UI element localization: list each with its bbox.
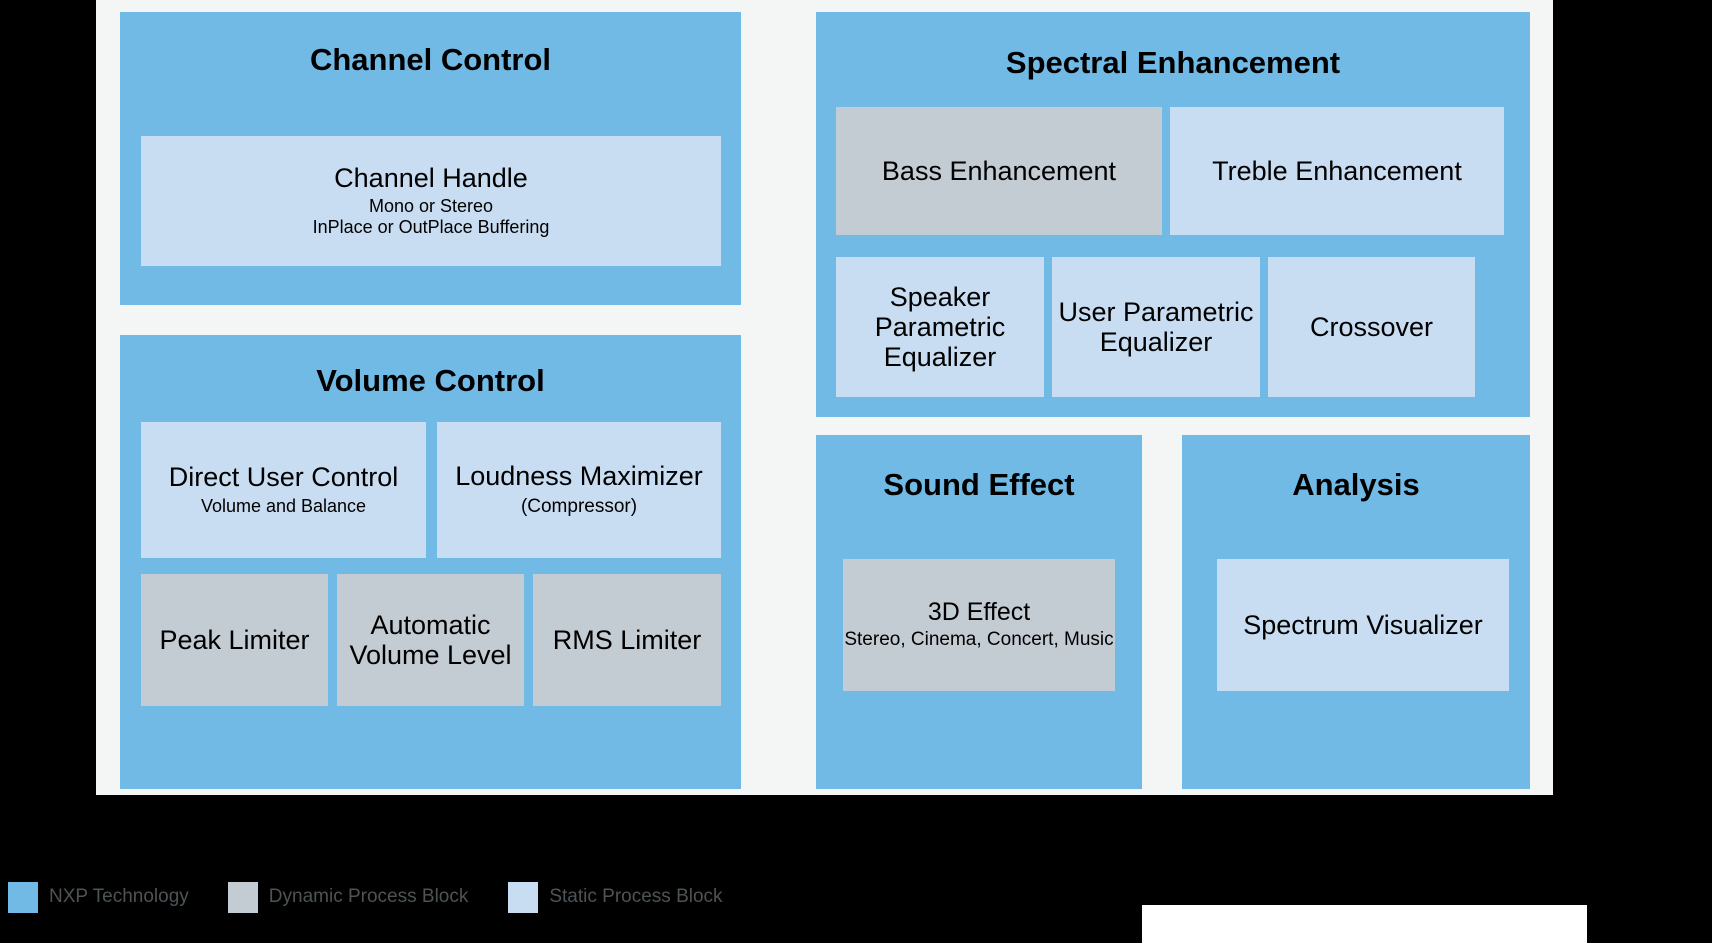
group-title-volume-control: Volume Control: [120, 363, 741, 399]
group-title-channel-control: Channel Control: [120, 42, 741, 78]
block-sub-channel-handle-2: InPlace or OutPlace Buffering: [313, 217, 550, 239]
block-title-bass-enhancement: Bass Enhancement: [882, 156, 1116, 186]
block-sub-loudness-maximizer: (Compressor): [521, 496, 637, 519]
block-sub-direct-user-control: Volume and Balance: [201, 496, 366, 518]
block-title-spectrum-visualizer: Spectrum Visualizer: [1243, 610, 1483, 640]
block-peak-limiter[interactable]: Peak Limiter: [141, 574, 328, 706]
block-treble-enhancement[interactable]: Treble Enhancement: [1170, 107, 1504, 235]
block-spectrum-visualizer[interactable]: Spectrum Visualizer: [1217, 559, 1509, 691]
group-panel-volume-control[interactable]: Volume Control Direct User Control Volum…: [120, 335, 741, 789]
group-title-analysis: Analysis: [1182, 467, 1530, 503]
group-panel-spectral-enhancement[interactable]: Spectral Enhancement Bass Enhancement Tr…: [816, 12, 1530, 417]
group-title-spectral-enhancement: Spectral Enhancement: [816, 45, 1530, 81]
block-speaker-parametric-equalizer[interactable]: Speaker Parametric Equalizer: [836, 257, 1044, 397]
legend-label-dynamic-process-block: Dynamic Process Block: [269, 886, 469, 908]
legend-swatch-nxp-technology: [8, 882, 38, 913]
legend-item-dynamic-process-block: Dynamic Process Block: [228, 877, 469, 917]
group-panel-sound-effect[interactable]: Sound Effect 3D Effect Stereo, Cinema, C…: [816, 435, 1142, 789]
right-column: Spectral Enhancement Bass Enhancement Tr…: [816, 12, 1530, 789]
group-title-sound-effect: Sound Effect: [816, 467, 1142, 503]
legend-item-nxp-technology: NXP Technology: [8, 877, 189, 917]
legend: NXP Technology Dynamic Process Block Sta…: [0, 877, 800, 917]
left-column: Channel Control Channel Handle Mono or S…: [120, 12, 800, 789]
group-panel-channel-control[interactable]: Channel Control Channel Handle Mono or S…: [120, 12, 741, 305]
block-user-parametric-equalizer[interactable]: User Parametric Equalizer: [1052, 257, 1260, 397]
legend-item-static-process-block: Static Process Block: [508, 877, 722, 917]
legend-label-static-process-block: Static Process Block: [549, 886, 722, 908]
block-automatic-volume-level[interactable]: Automatic Volume Level: [337, 574, 524, 706]
block-title-user-parametric-equalizer: User Parametric Equalizer: [1052, 297, 1260, 357]
block-title-crossover: Crossover: [1310, 312, 1433, 342]
block-title-rms-limiter: RMS Limiter: [553, 625, 702, 655]
block-title-direct-user-control: Direct User Control: [169, 462, 399, 492]
block-title-speaker-parametric-equalizer: Speaker Parametric Equalizer: [836, 282, 1044, 373]
block-title-loudness-maximizer: Loudness Maximizer: [455, 461, 703, 491]
block-direct-user-control[interactable]: Direct User Control Volume and Balance: [141, 422, 426, 558]
block-title-treble-enhancement: Treble Enhancement: [1212, 156, 1462, 186]
block-title-channel-handle: Channel Handle: [334, 163, 528, 193]
block-3d-effect[interactable]: 3D Effect Stereo, Cinema, Concert, Music: [843, 559, 1115, 691]
block-title-automatic-volume-level: Automatic Volume Level: [337, 610, 524, 670]
block-sub-3d-effect: Stereo, Cinema, Concert, Music: [844, 629, 1113, 652]
legend-label-nxp-technology: NXP Technology: [49, 886, 189, 908]
block-channel-handle[interactable]: Channel Handle Mono or Stereo InPlace or…: [141, 136, 721, 266]
block-title-3d-effect: 3D Effect: [928, 598, 1030, 626]
bottom-right-plate: [1142, 905, 1587, 943]
block-crossover[interactable]: Crossover: [1268, 257, 1475, 397]
block-rms-limiter[interactable]: RMS Limiter: [533, 574, 721, 706]
group-panel-analysis[interactable]: Analysis Spectrum Visualizer: [1182, 435, 1530, 789]
diagram-canvas: Channel Control Channel Handle Mono or S…: [96, 0, 1553, 795]
legend-swatch-static-process-block: [508, 882, 538, 913]
block-bass-enhancement[interactable]: Bass Enhancement: [836, 107, 1162, 235]
legend-swatch-dynamic-process-block: [228, 882, 258, 913]
block-loudness-maximizer[interactable]: Loudness Maximizer (Compressor): [437, 422, 721, 558]
block-sub-channel-handle-1: Mono or Stereo: [369, 196, 493, 218]
block-title-peak-limiter: Peak Limiter: [159, 625, 309, 655]
